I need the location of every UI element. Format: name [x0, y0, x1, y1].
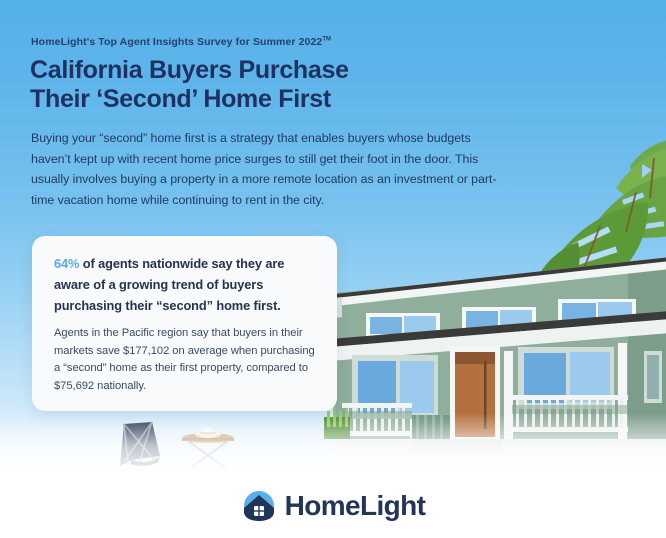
- brand-logo[interactable]: HomeLight: [241, 488, 426, 524]
- intro-paragraph: Buying your “second” home first is a str…: [31, 128, 503, 210]
- stat-callout-lead: 64% of agents nationwide say they are aw…: [54, 253, 315, 316]
- stat-callout-card: 64% of agents nationwide say they are aw…: [32, 236, 337, 411]
- headline-line-1: California Buyers Purchase: [30, 56, 349, 84]
- survey-eyebrow: HomeLight's Top Agent Insights Survey fo…: [31, 36, 331, 48]
- brand-wordmark: HomeLight: [285, 490, 426, 522]
- eyebrow-text: HomeLight's Top Agent Insights Survey fo…: [31, 36, 322, 48]
- footer-bar: HomeLight: [0, 473, 666, 538]
- page-title: California Buyers Purchase Their ‘Second…: [30, 56, 430, 114]
- homelight-house-logo-icon: [241, 488, 277, 524]
- headline-line-2: Their ‘Second’ Home First: [30, 85, 331, 113]
- illustration-scene: HomeLight's Top Agent Insights Survey fo…: [0, 0, 666, 473]
- stat-lead-rest: of agents nationwide say they are aware …: [54, 256, 284, 313]
- house-illustration: [322, 255, 666, 473]
- trademark-superscript: TM: [322, 37, 331, 43]
- stat-percentage: 64%: [54, 256, 79, 271]
- patio-furniture-illustration: [118, 412, 248, 473]
- infographic-poster: HomeLight's Top Agent Insights Survey fo…: [0, 0, 666, 538]
- stat-callout-detail: Agents in the Pacific region say that bu…: [54, 325, 315, 395]
